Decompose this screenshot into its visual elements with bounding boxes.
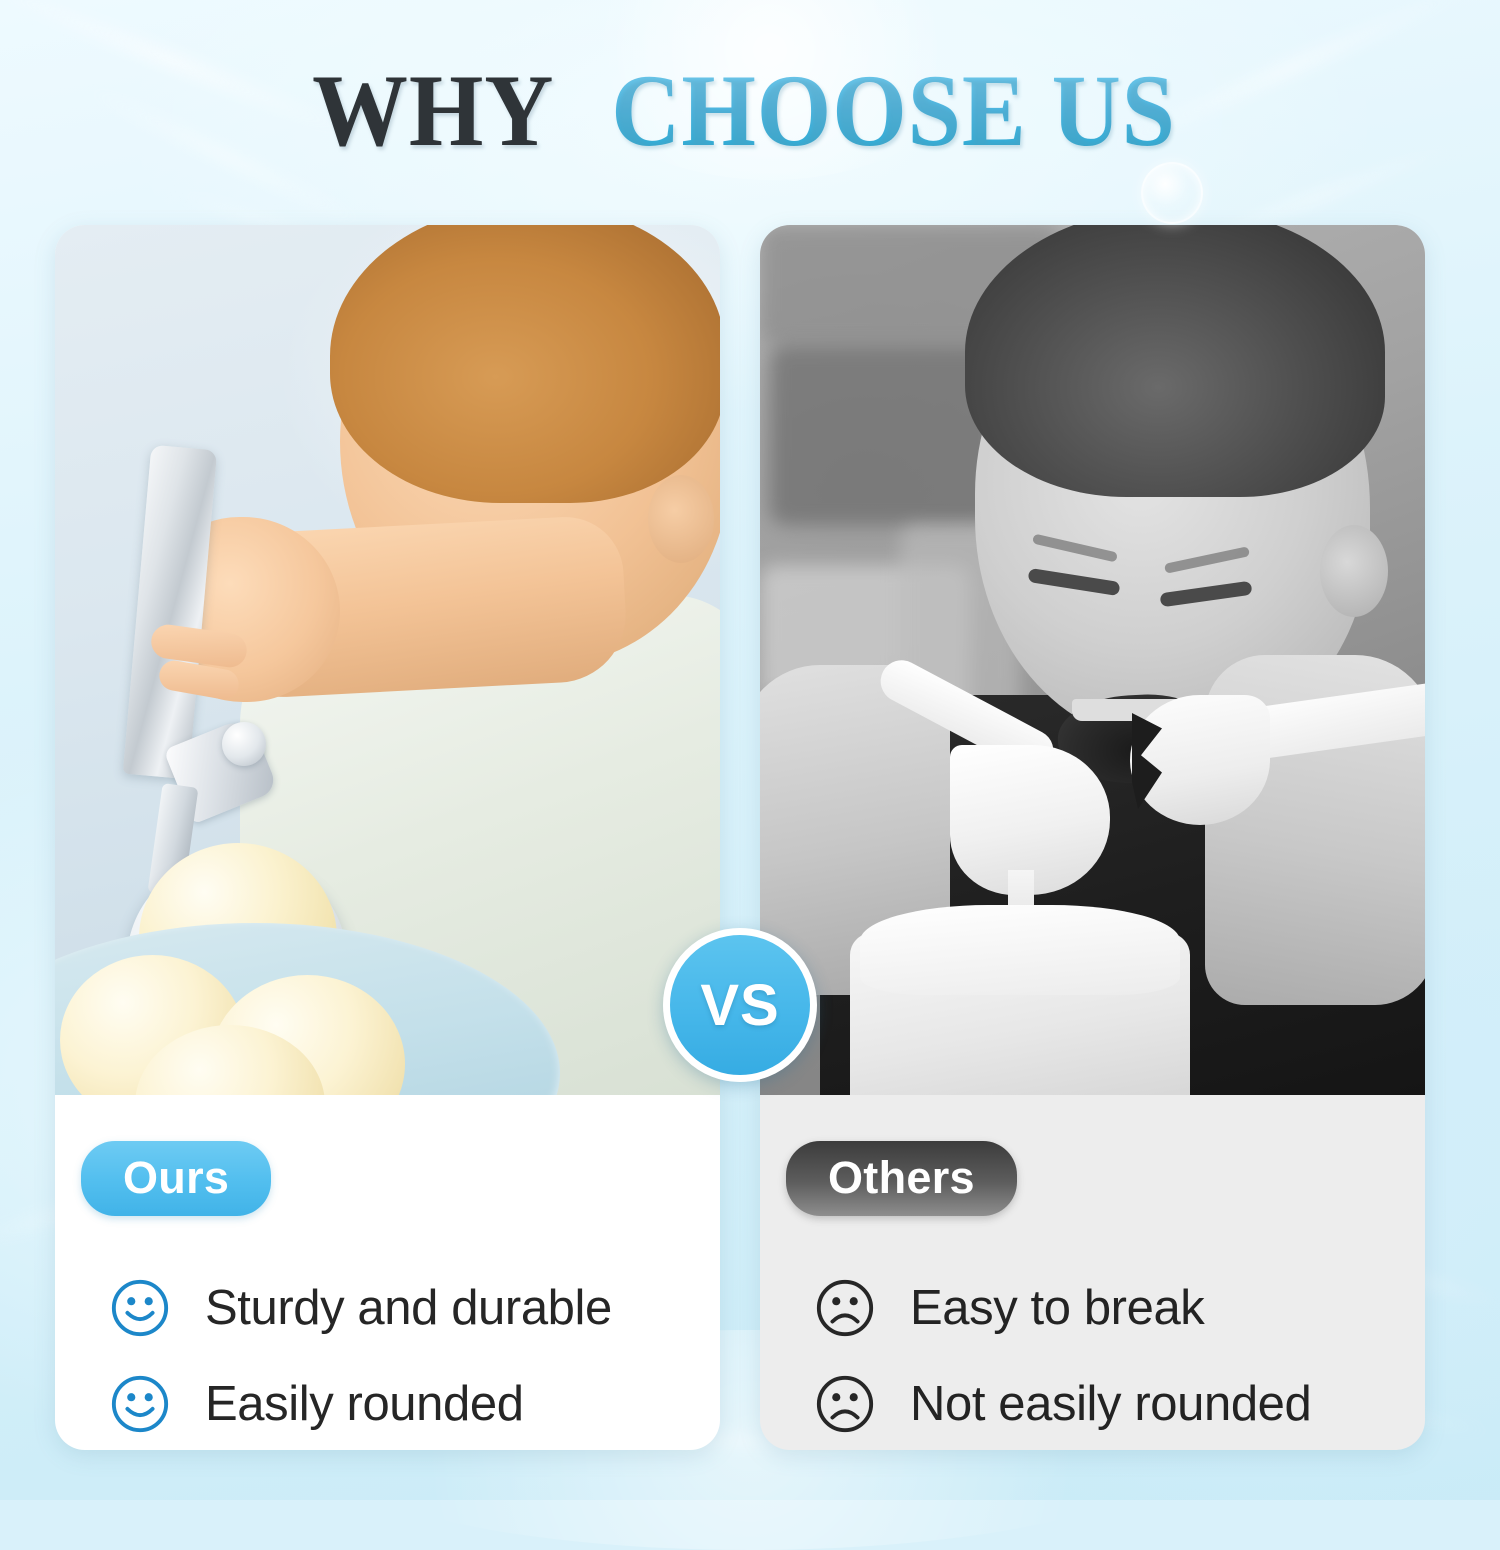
feature-label: Easy to break — [910, 1280, 1204, 1336]
badge-ours: Ours — [81, 1141, 271, 1216]
child-ear — [648, 475, 714, 563]
feature-list-others: Easy to break Not easily rounded — [786, 1260, 1425, 1450]
badge-others: Others — [786, 1141, 1017, 1216]
child-ear — [1320, 525, 1388, 617]
photo-ours — [55, 225, 720, 1095]
list-item: Easy to break — [786, 1260, 1425, 1356]
scoop-knob — [222, 722, 266, 766]
bubble-icon — [1141, 162, 1203, 224]
broken-spoon-head — [1130, 695, 1270, 825]
versus-label: VS — [700, 972, 779, 1039]
list-item: Sturdy and durable — [81, 1260, 720, 1356]
panel-others: Others Easy to break — [760, 1095, 1425, 1450]
smiley-face-icon — [109, 1373, 171, 1435]
ice-cream-surface — [860, 905, 1180, 995]
sad-face-icon — [814, 1277, 876, 1339]
feature-label: Not easily rounded — [910, 1376, 1311, 1432]
page-title: WHY CHOOSE US — [0, 52, 1500, 170]
feature-label: Sturdy and durable — [205, 1280, 612, 1336]
scoop-handle — [123, 445, 218, 779]
list-item: Easily rounded — [81, 1356, 720, 1450]
page-title-blue-part: CHOOSE US — [611, 52, 1176, 170]
comparison-card-others: Others Easy to break — [760, 225, 1425, 1450]
sad-face-icon — [814, 1373, 876, 1435]
comparison-card-ours: Ours Sturdy and durable — [55, 225, 720, 1450]
child-hair — [330, 225, 720, 503]
child-hair — [965, 225, 1385, 497]
photo-others — [760, 225, 1425, 1095]
panel-ours: Ours Sturdy and durable — [55, 1095, 720, 1450]
feature-list-ours: Sturdy and durable Easily rounded — [81, 1260, 720, 1450]
list-item: Not easily rounded — [786, 1356, 1425, 1450]
smiley-face-icon — [109, 1277, 171, 1339]
page-title-dark-part: WHY — [312, 52, 554, 170]
feature-label: Easily rounded — [205, 1376, 524, 1432]
versus-badge: VS — [663, 928, 817, 1082]
